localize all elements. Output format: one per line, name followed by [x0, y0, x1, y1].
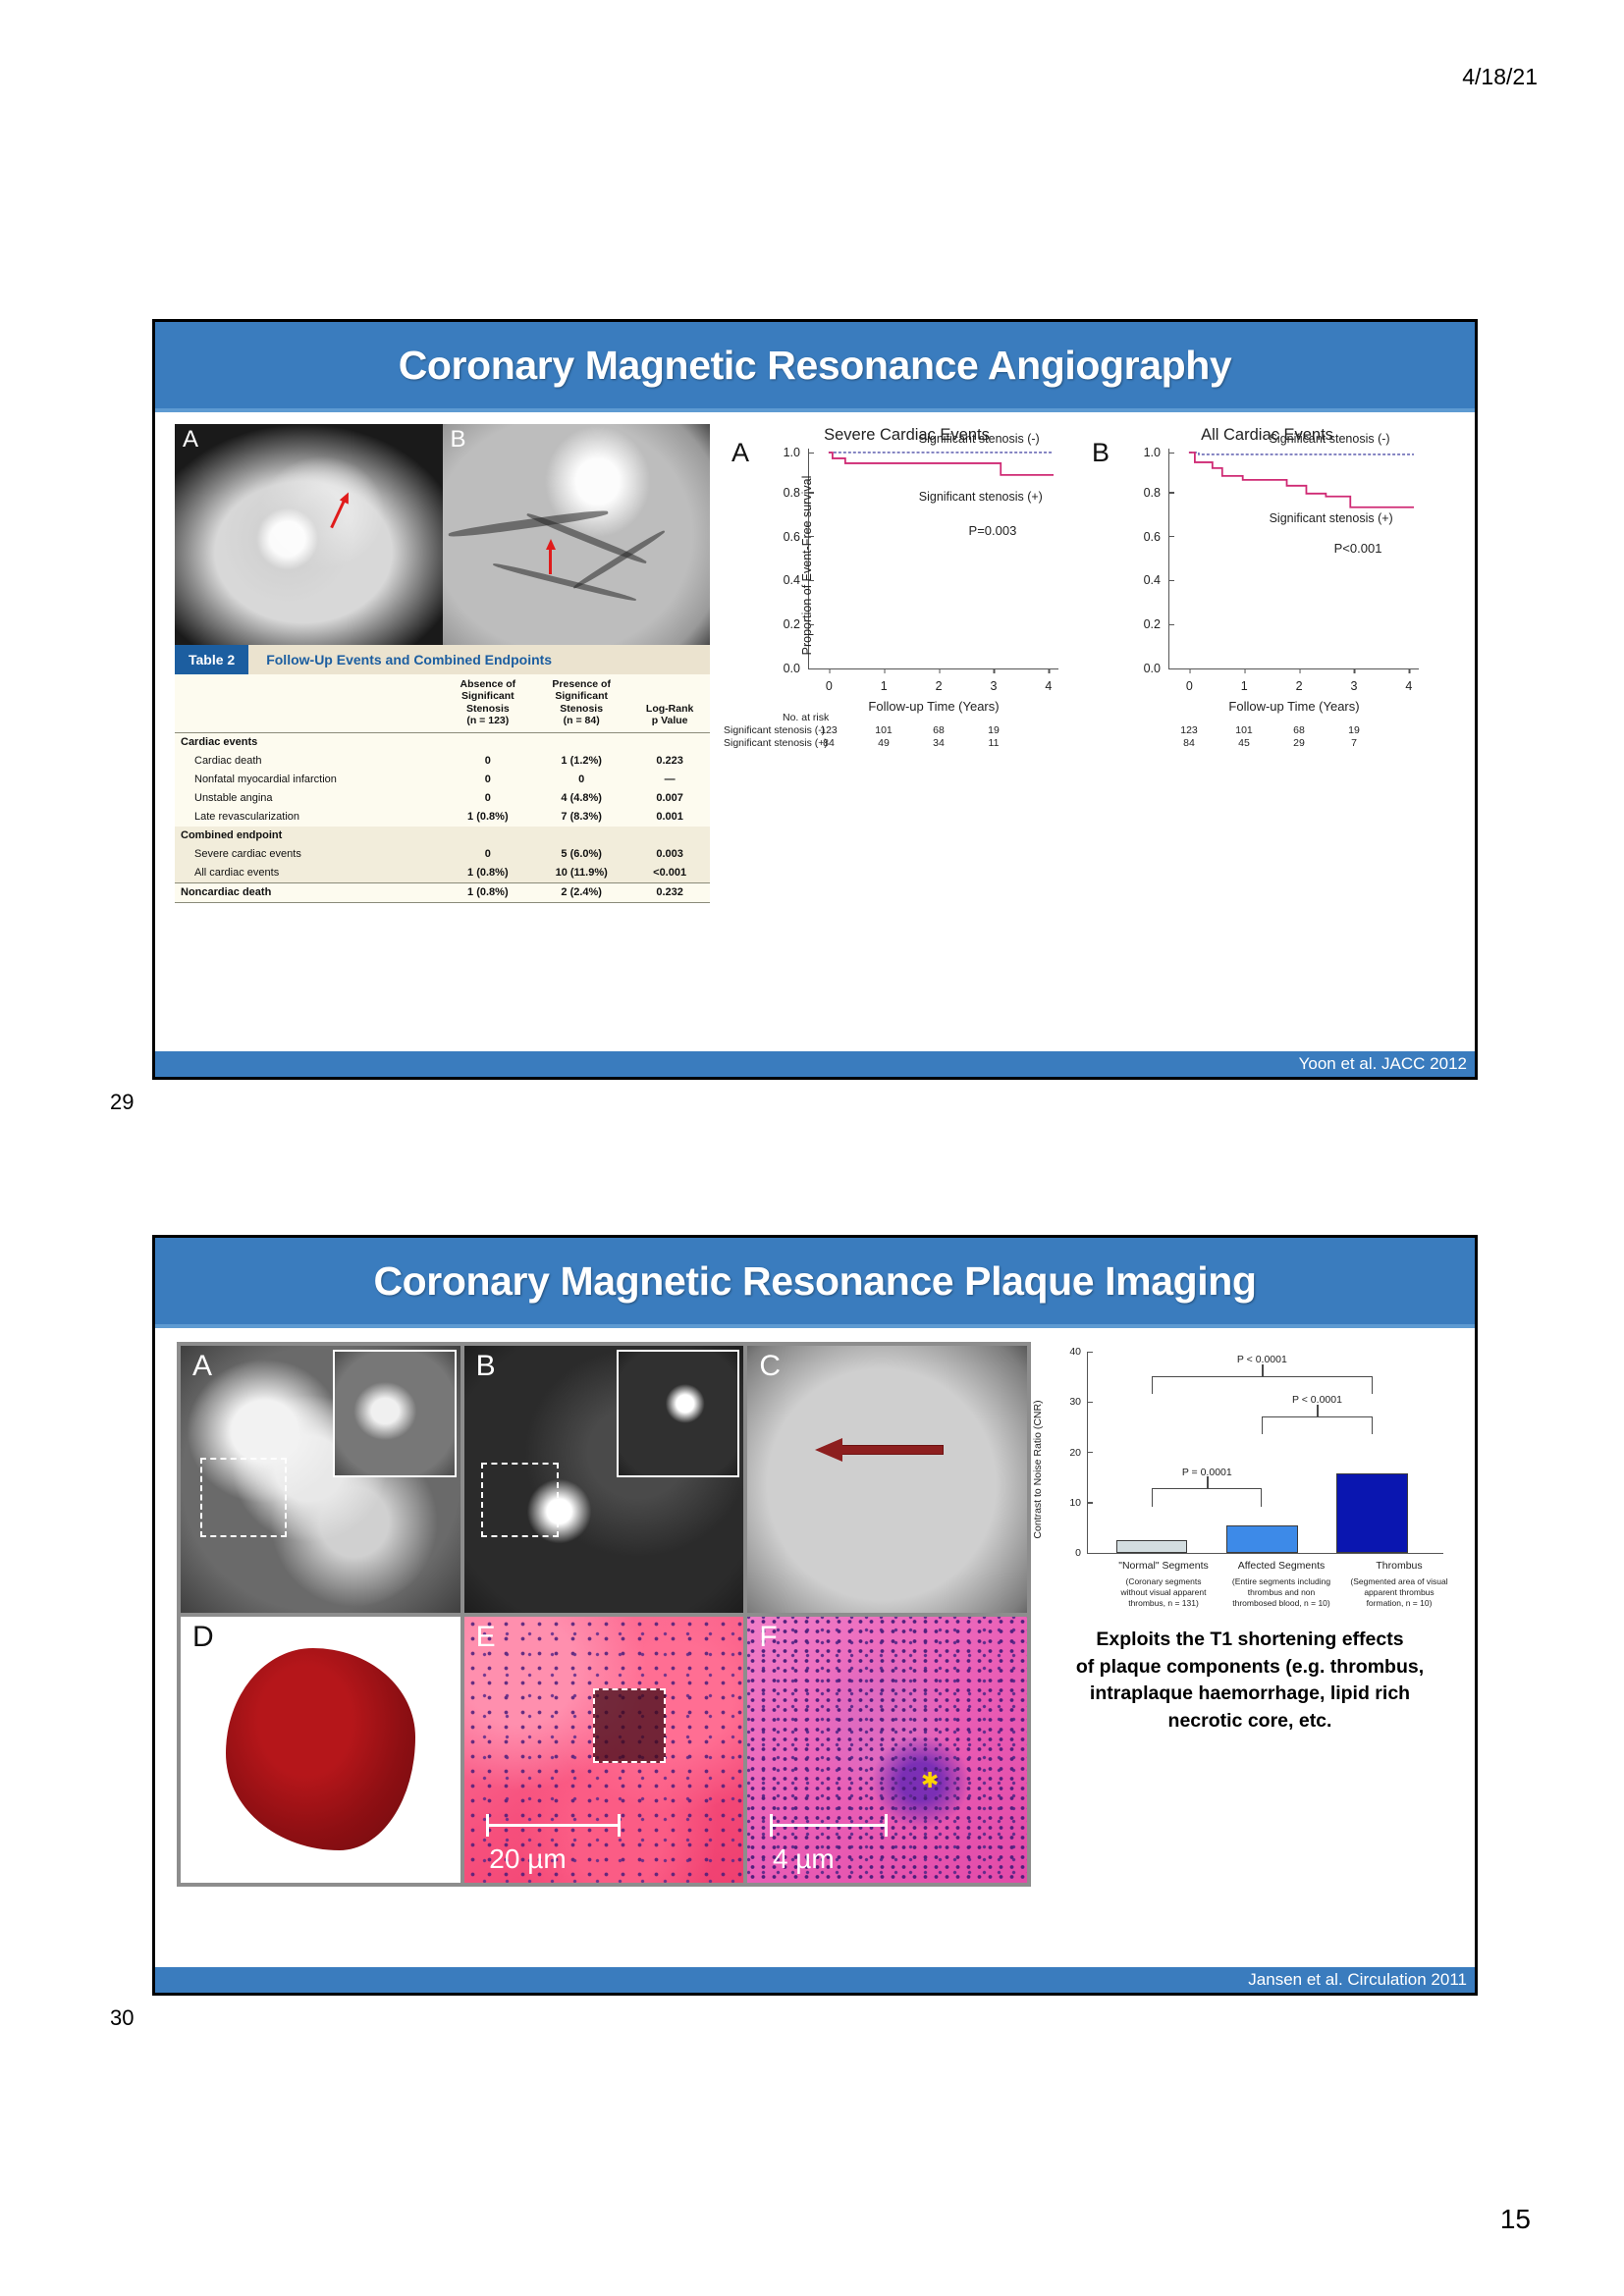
slide1-left-column: A B [175, 424, 710, 903]
km-b-xtick: 0 [1186, 668, 1193, 693]
km-panel-b-label: B [1092, 438, 1110, 468]
chart-ytick: 30 [1069, 1396, 1088, 1408]
km-a-ytick: 1.0 [784, 446, 809, 459]
km-a-xtick: 3 [990, 668, 997, 693]
slide2-citation: Jansen et al. Circulation 2011 [1248, 1970, 1467, 1990]
chart-plot-area: 0 10 20 30 40 P = 0.0001 P < 0.0001 [1087, 1352, 1443, 1554]
km-a-risk-title: No. at risk [783, 712, 829, 723]
scale-bar-f [770, 1824, 888, 1827]
plaque-panel-a: A [181, 1346, 460, 1613]
col-header-logrank: Log-Rank p Value [629, 674, 710, 732]
table-badge: Table 2 [175, 645, 248, 674]
km-b-risk-pos: 45 [1238, 737, 1250, 750]
plaque-arrow-icon [815, 1442, 944, 1458]
plaque-panel-f: ✱ 4 µm F [747, 1617, 1027, 1884]
plaque-note-text: Exploits the T1 shortening effects of pl… [1039, 1627, 1461, 1735]
table-row: Unstable angina 0 4 (4.8%) 0.007 [175, 789, 710, 808]
roi-dashed-box-a [200, 1458, 287, 1537]
plaque-inset-a [333, 1350, 456, 1477]
slide2-number: 30 [110, 2005, 134, 2031]
km-a-ytick: 0.6 [784, 530, 809, 544]
col-header-presence: Presence of Significant Stenosis (n = 84… [533, 674, 629, 732]
km-b-ytick: 0.8 [1144, 486, 1169, 500]
km-a-pvalue: P=0.003 [969, 523, 1017, 538]
km-b-risk-neg: 101 [1235, 724, 1253, 737]
slide-coronary-mr-angiography[interactable]: Coronary Magnetic Resonance Angiography … [152, 319, 1478, 1080]
plaque-inset-b [617, 1350, 739, 1477]
table-row: Cardiac events [175, 732, 710, 752]
km-b-ytick: 0.0 [1144, 662, 1169, 675]
slide1-title: Coronary Magnetic Resonance Angiography [399, 343, 1232, 389]
km-b-legend-positive: Significant stenosis (+) [1270, 511, 1393, 525]
scale-bar-f-label: 4 µm [773, 1843, 835, 1875]
coronary-angiogram-image [443, 424, 711, 645]
plaque-panel-e: 20 µm E [464, 1617, 744, 1884]
km-a-risk-label-positive: Significant stenosis (+) [724, 737, 828, 750]
plaque-panel-b: B [464, 1346, 744, 1613]
chart-bar-affected [1226, 1525, 1297, 1553]
chart-bar-normal [1116, 1540, 1187, 1553]
mr-panel-a: A [175, 424, 443, 645]
slide1-citation: Yoon et al. JACC 2012 [1299, 1054, 1467, 1074]
plaque-panel-d: D [181, 1617, 460, 1884]
km-b-legend-negative: Significant stenosis (-) [1270, 432, 1390, 446]
km-b-ytick: 1.0 [1144, 446, 1169, 459]
km-b-risk-neg: 19 [1348, 724, 1360, 737]
table-body: Cardiac events Cardiac death 0 1 (1.2%) … [175, 732, 710, 902]
slide2-title: Coronary Magnetic Resonance Plaque Imagi… [373, 1258, 1256, 1305]
km-a-ytick: 0.8 [784, 486, 809, 500]
chart-category-normal: "Normal" Segments (Coronary segments wit… [1105, 1560, 1222, 1609]
km-b-xtick: 3 [1350, 668, 1357, 693]
sig-label-affected-thrombus: P < 0.0001 [1292, 1394, 1342, 1406]
km-panel-b: B All Cardiac Events 0.0 0.2 0.4 0.6 0.8… [1098, 426, 1436, 730]
chart-ytick: 20 [1069, 1447, 1088, 1459]
cnr-bar-chart: Contrast to Noise Ratio (CNR) 0 10 20 30… [1044, 1338, 1461, 1593]
slide2-title-bar: Coronary Magnetic Resonance Plaque Imagi… [155, 1238, 1475, 1328]
km-a-ytick: 0.2 [784, 617, 809, 631]
scale-bar-e-label: 20 µm [489, 1843, 566, 1875]
slide-coronary-mr-plaque-imaging[interactable]: Coronary Magnetic Resonance Plaque Imagi… [152, 1235, 1478, 1996]
table-caption: Follow-Up Events and Combined Endpoints [248, 645, 552, 674]
km-a-risk-pos: 34 [933, 737, 945, 750]
km-b-xtick: 4 [1405, 668, 1412, 693]
sig-bracket-affected-thrombus [1262, 1416, 1372, 1434]
km-a-legend-negative: Significant stenosis (-) [919, 432, 1040, 446]
kaplan-meier-figure: A Severe Cardiac Events Proportion of Ev… [720, 416, 1469, 1051]
sig-bracket-normal-affected [1152, 1488, 1262, 1506]
slide1-title-bar: Coronary Magnetic Resonance Angiography [155, 322, 1475, 412]
km-b-risk-neg: 123 [1180, 724, 1198, 737]
mr-panel-a-label: A [183, 426, 198, 454]
table-caption-row: Table 2 Follow-Up Events and Combined En… [175, 645, 710, 674]
mr-image-strip: A B [175, 424, 710, 645]
km-b-curves [1169, 449, 1419, 668]
chart-ylabel: Contrast to Noise Ratio (CNR) [1032, 1400, 1044, 1538]
sig-bracket-normal-thrombus [1152, 1376, 1372, 1394]
km-a-ytick: 0.4 [784, 573, 809, 587]
km-a-risk-neg: 101 [875, 724, 893, 737]
km-a-curves [809, 449, 1058, 668]
table-row: All cardiac events 1 (0.8%) 10 (11.9%) <… [175, 864, 710, 883]
km-b-risk-neg: 68 [1293, 724, 1305, 737]
plaque-panel-c: C [747, 1346, 1027, 1613]
table-2: Absence of Significant Stenosis (n = 123… [175, 674, 710, 903]
chart-category-affected: Affected Segments (Entire segments inclu… [1218, 1560, 1344, 1609]
km-panel-a-label: A [731, 438, 749, 468]
km-a-risk-neg: 19 [988, 724, 1000, 737]
col-header-absence: Absence of Significant Stenosis (n = 123… [443, 674, 534, 732]
plaque-panel-f-label: F [759, 1621, 777, 1654]
km-a-xlabel: Follow-up Time (Years) [868, 699, 999, 714]
km-a-ytick: 0.0 [784, 662, 809, 675]
km-a-risk-neg: 68 [933, 724, 945, 737]
scale-bar-e [486, 1824, 621, 1827]
km-a-legend-positive: Significant stenosis (+) [919, 490, 1043, 504]
km-a-risk-pos: 11 [989, 737, 1000, 750]
km-b-pvalue: P<0.001 [1334, 541, 1382, 556]
km-b-xtick: 2 [1296, 668, 1303, 693]
table-row: Cardiac death 0 1 (1.2%) 0.223 [175, 752, 710, 771]
km-b-risk-pos: 7 [1351, 737, 1357, 750]
km-a-xtick: 4 [1045, 668, 1052, 693]
table-row: Nonfatal myocardial infarction 0 0 — [175, 771, 710, 789]
page-date: 4/18/21 [1462, 64, 1538, 90]
page-number: 15 [1500, 2204, 1531, 2235]
plaque-mri-c-image [747, 1346, 1027, 1613]
sig-label-normal-thrombus: P < 0.0001 [1237, 1354, 1287, 1365]
slide1-number: 29 [110, 1090, 134, 1115]
thrombus-specimen-image [181, 1617, 460, 1884]
plaque-panel-c-label: C [759, 1350, 781, 1383]
sig-label-normal-affected: P = 0.0001 [1182, 1467, 1232, 1478]
asterisk-marker-icon: ✱ [921, 1768, 939, 1793]
chart-bar-thrombus [1336, 1473, 1407, 1553]
km-a-risk-pos: 49 [878, 737, 890, 750]
chart-category-thrombus: Thrombus (Segmented area of visual appar… [1337, 1560, 1461, 1609]
chart-ytick: 0 [1075, 1547, 1088, 1559]
slide1-footer: Yoon et al. JACC 2012 [155, 1051, 1475, 1077]
slide1-body: A B [155, 416, 1475, 1051]
plaque-panel-d-label: D [192, 1621, 214, 1654]
km-a-risk-neg: 123 [820, 724, 838, 737]
plaque-panel-a-label: A [192, 1350, 212, 1383]
slide2-body: A B C D [155, 1332, 1475, 1967]
plaque-panel-b-label: B [476, 1350, 496, 1383]
coronary-mra-image [175, 424, 443, 645]
plaque-panel-e-label: E [476, 1621, 496, 1654]
table-row: Late revascularization 1 (0.8%) 7 (8.3%)… [175, 808, 710, 827]
km-panel-a: A Severe Cardiac Events Proportion of Ev… [737, 426, 1076, 730]
km-a-xtick: 2 [936, 668, 943, 693]
plaque-panel-grid: A B C D [177, 1342, 1031, 1887]
km-a-risk-pos: 84 [823, 737, 835, 750]
km-a-xtick: 0 [826, 668, 833, 693]
km-b-ytick: 0.4 [1144, 573, 1169, 587]
roi-dashed-box-b [481, 1463, 560, 1537]
km-a-risk-label-negative: Significant stenosis (-) [724, 724, 825, 737]
table-row: Combined endpoint [175, 827, 710, 845]
slide2-footer: Jansen et al. Circulation 2011 [155, 1967, 1475, 1993]
km-a-xtick: 1 [881, 668, 888, 693]
table-row: Severe cardiac events 0 5 (6.0%) 0.003 [175, 845, 710, 864]
km-b-ytick: 0.6 [1144, 530, 1169, 544]
mr-panel-b-label: B [451, 426, 466, 454]
table-row: Noncardiac death 1 (0.8%) 2 (2.4%) 0.232 [175, 882, 710, 902]
chart-ytick: 10 [1069, 1497, 1088, 1509]
table-header-row: Absence of Significant Stenosis (n = 123… [175, 674, 710, 732]
km-plot-a: Proportion of Event-Free survival 0.0 0.… [808, 449, 1058, 669]
histology-e-roi [593, 1688, 666, 1763]
km-plot-b: 0.0 0.2 0.4 0.6 0.8 1.0 0 1 2 3 4 Follow… [1168, 449, 1419, 669]
followup-events-table: Table 2 Follow-Up Events and Combined En… [175, 645, 710, 903]
km-b-xlabel: Follow-up Time (Years) [1228, 699, 1359, 714]
chart-ytick: 40 [1069, 1346, 1088, 1358]
km-b-risk-pos: 84 [1183, 737, 1195, 750]
mr-panel-b: B [443, 424, 711, 645]
km-b-xtick: 1 [1241, 668, 1248, 693]
stenosis-arrow-b [544, 539, 558, 574]
km-b-risk-pos: 29 [1293, 737, 1305, 750]
km-b-ytick: 0.2 [1144, 617, 1169, 631]
